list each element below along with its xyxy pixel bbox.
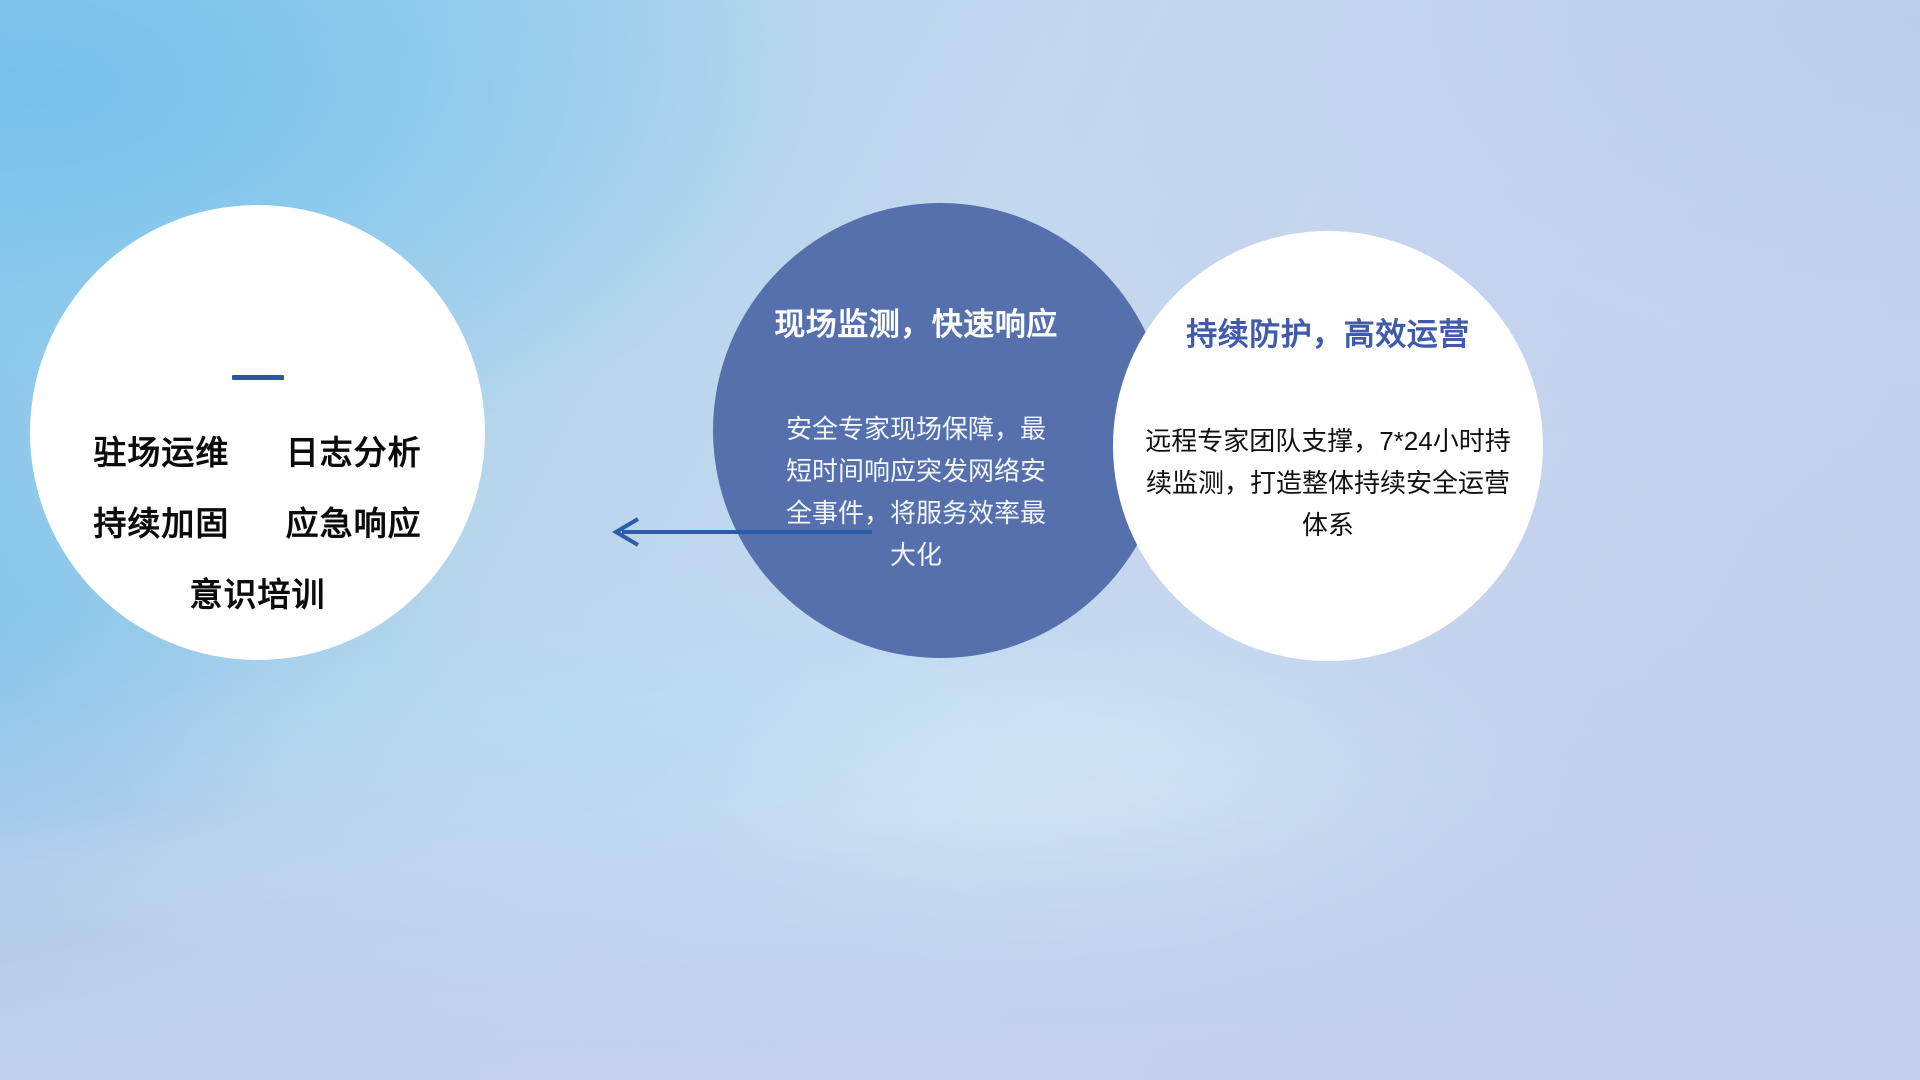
capabilities-circle: 驻场运维 日志分析 持续加固 应急响应 意识培训: [30, 205, 485, 660]
onsite-monitoring-body: 安全专家现场保障，最短时间响应突发网络安全事件，将服务效率最大化: [777, 408, 1055, 576]
continuous-protection-body: 远程专家团队支撑，7*24小时持续监测，打造整体持续安全运营体系: [1144, 420, 1512, 546]
capability-label: 意识培训: [190, 576, 326, 613]
capability-label: 持续加固: [93, 505, 229, 542]
capabilities-content: 驻场运维 日志分析 持续加固 应急响应 意识培训: [30, 375, 485, 611]
capability-row: 驻场运维 日志分析: [30, 436, 485, 469]
onsite-monitoring-title: 现场监测，快速响应: [751, 299, 1081, 344]
divider-dash-icon: [232, 375, 284, 380]
capability-label: 日志分析: [286, 434, 422, 471]
continuous-protection-circle: 持续防护，高效运营 远程专家团队支撑，7*24小时持续监测，打造整体持续安全运营…: [1113, 231, 1543, 661]
capability-label: 驻场运维: [93, 434, 229, 471]
capability-row: 持续加固 应急响应: [30, 507, 485, 540]
slide-canvas: 现场监测，快速响应 安全专家现场保障，最短时间响应突发网络安全事件，将服务效率最…: [0, 0, 1920, 1080]
continuous-protection-title: 持续防护，高效运营: [1113, 309, 1543, 354]
onsite-monitoring-circle: 现场监测，快速响应 安全专家现场保障，最短时间响应突发网络安全事件，将服务效率最…: [713, 203, 1168, 658]
continuous-protection-content: 持续防护，高效运营 远程专家团队支撑，7*24小时持续监测，打造整体持续安全运营…: [1113, 309, 1543, 546]
leftward-flow-arrow: [600, 515, 875, 549]
capability-label: 应急响应: [286, 505, 422, 542]
capability-row: 意识培训: [30, 578, 485, 611]
